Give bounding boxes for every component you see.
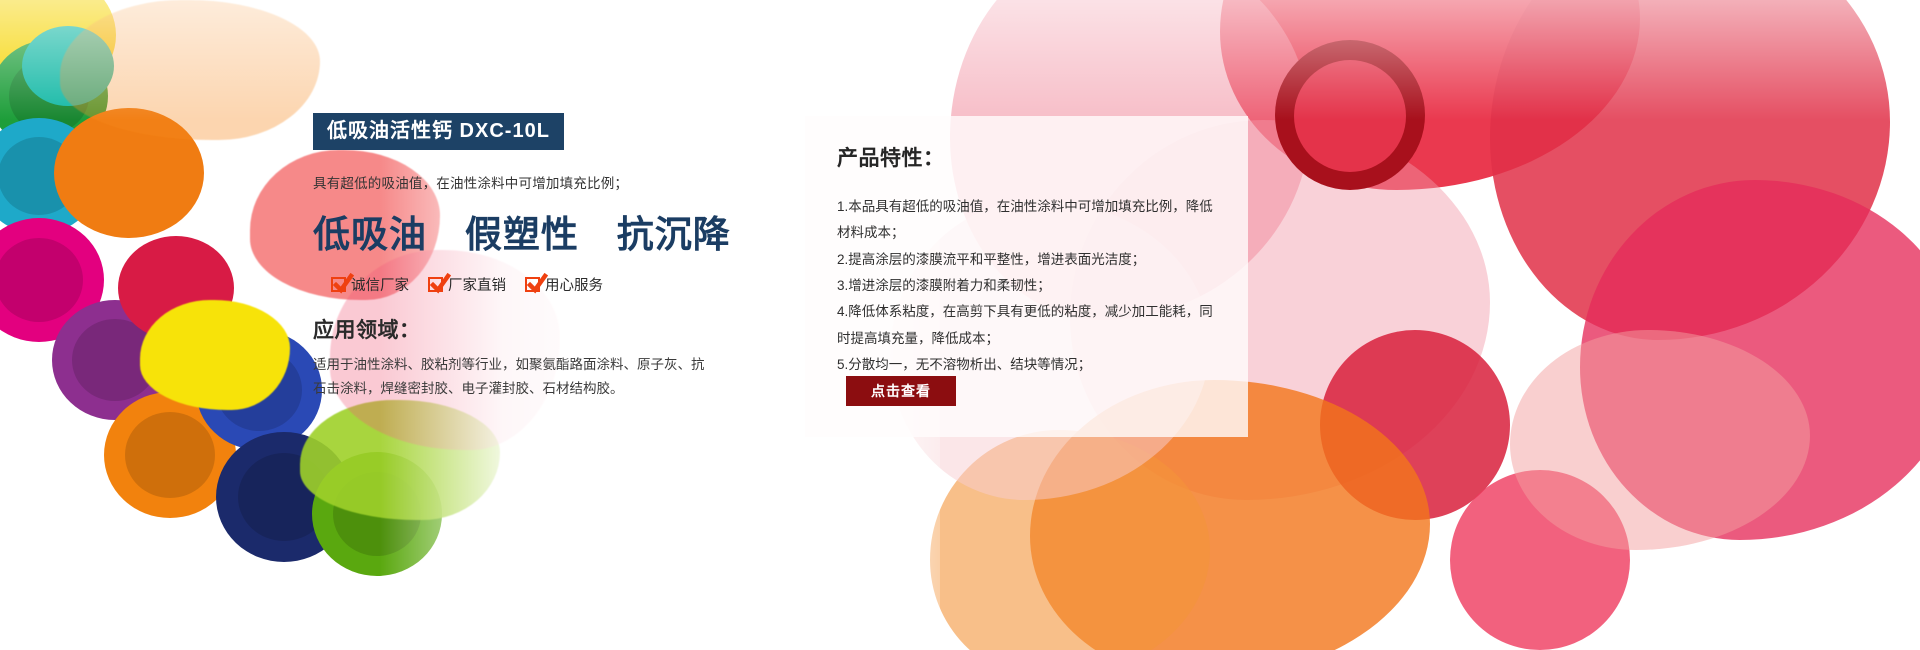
headline-part-1: 低吸油	[313, 213, 427, 256]
trust-badge-2: 厂家直销	[428, 274, 506, 295]
trust-badge-1: 诚信厂家	[331, 274, 409, 295]
paint-ring-dark-red-inner	[1294, 60, 1406, 172]
paint-smear-yellow	[140, 300, 290, 410]
headline-row: 低吸油 假塑性 抗沉降	[313, 204, 733, 258]
product-subline: 具有超低的吸油值，在油性涂料中可增加填充比例；	[313, 172, 733, 192]
trust-badge-label: 厂家直销	[448, 274, 506, 295]
product-title-badge: 低吸油活性钙 DXC-10L	[313, 113, 564, 150]
feature-item: 1.本品具有超低的吸油值，在油性涂料中可增加填充比例，降低材料成本；	[837, 194, 1218, 247]
trust-badge-label: 用心服务	[545, 274, 603, 295]
paint-smear-orange3	[60, 0, 320, 140]
checkmark-icon	[525, 277, 540, 292]
trust-badge-row: 诚信厂家 厂家直销 用心服务	[331, 274, 733, 295]
checkmark-icon	[331, 277, 346, 292]
application-section-title: 应用领域：	[313, 314, 733, 344]
features-list: 1.本品具有超低的吸油值，在油性涂料中可增加填充比例，降低材料成本； 2.提高涂…	[837, 194, 1218, 378]
feature-item: 2.提高涂层的漆膜流平和平整性，增进表面光洁度；	[837, 247, 1218, 273]
feature-item: 5.分散均一，无不溶物析出、结块等情况；	[837, 352, 1218, 378]
feature-item: 3.增进涂层的漆膜附着力和柔韧性；	[837, 273, 1218, 299]
application-section-body: 适用于油性涂料、胶粘剂等行业，如聚氨酯路面涂料、原子灰、抗石击涂料，焊缝密封胶、…	[313, 353, 713, 400]
promo-banner: 低吸油活性钙 DXC-10L 具有超低的吸油值，在油性涂料中可增加填充比例； 低…	[0, 0, 1920, 650]
feature-item: 4.降低体系粘度，在高剪下具有更低的粘度，减少加工能耗，同时提高填充量，降低成本…	[837, 299, 1218, 352]
trust-badge-label: 诚信厂家	[351, 274, 409, 295]
checkmark-icon	[428, 277, 443, 292]
headline-part-2: 假塑性	[465, 213, 579, 256]
trust-badge-3: 用心服务	[525, 274, 603, 295]
features-panel-title: 产品特性：	[837, 142, 1218, 172]
view-details-button[interactable]: 点击查看	[846, 376, 956, 406]
headline-part-3: 抗沉降	[617, 213, 731, 256]
left-content: 低吸油活性钙 DXC-10L 具有超低的吸油值，在油性涂料中可增加填充比例； 低…	[313, 113, 733, 400]
